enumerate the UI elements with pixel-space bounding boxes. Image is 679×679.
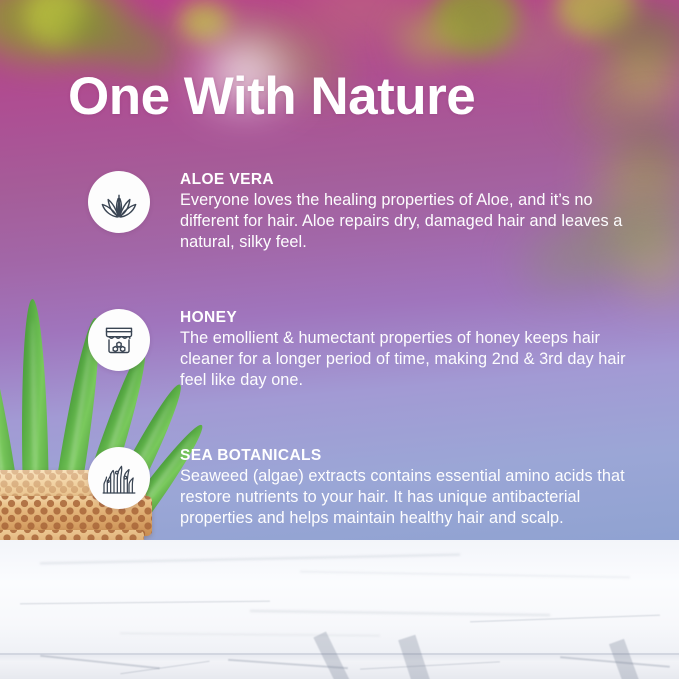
honey-jar-icon	[99, 320, 139, 360]
feature-item-aloe-vera: ALOE VERA Everyone loves the healing pro…	[88, 171, 648, 253]
feature-title: HONEY	[180, 309, 648, 327]
feature-item-honey: HONEY The emollient & humectant properti…	[88, 309, 648, 391]
feature-title: ALOE VERA	[180, 171, 648, 189]
product-infographic: One With Nature ALOE VERA	[0, 0, 679, 679]
feature-body: The emollient & humectant properties of …	[180, 328, 648, 391]
aloe-plant-icon-badge	[88, 171, 150, 233]
feature-body: Seaweed (algae) extracts contains essent…	[180, 466, 648, 529]
feature-item-sea-botanicals: SEA BOTANICALS Seaweed (algae) extracts …	[88, 447, 648, 529]
feature-text: SEA BOTANICALS Seaweed (algae) extracts …	[180, 447, 648, 529]
feature-title: SEA BOTANICALS	[180, 447, 648, 465]
feature-text: ALOE VERA Everyone loves the healing pro…	[180, 171, 648, 253]
feature-list: ALOE VERA Everyone loves the healing pro…	[0, 0, 679, 679]
honey-jar-icon-badge	[88, 309, 150, 371]
aloe-plant-icon	[99, 182, 139, 222]
seaweed-icon-badge	[88, 447, 150, 509]
feature-text: HONEY The emollient & humectant properti…	[180, 309, 648, 391]
seaweed-icon	[99, 458, 139, 498]
feature-body: Everyone loves the healing properties of…	[180, 190, 648, 253]
